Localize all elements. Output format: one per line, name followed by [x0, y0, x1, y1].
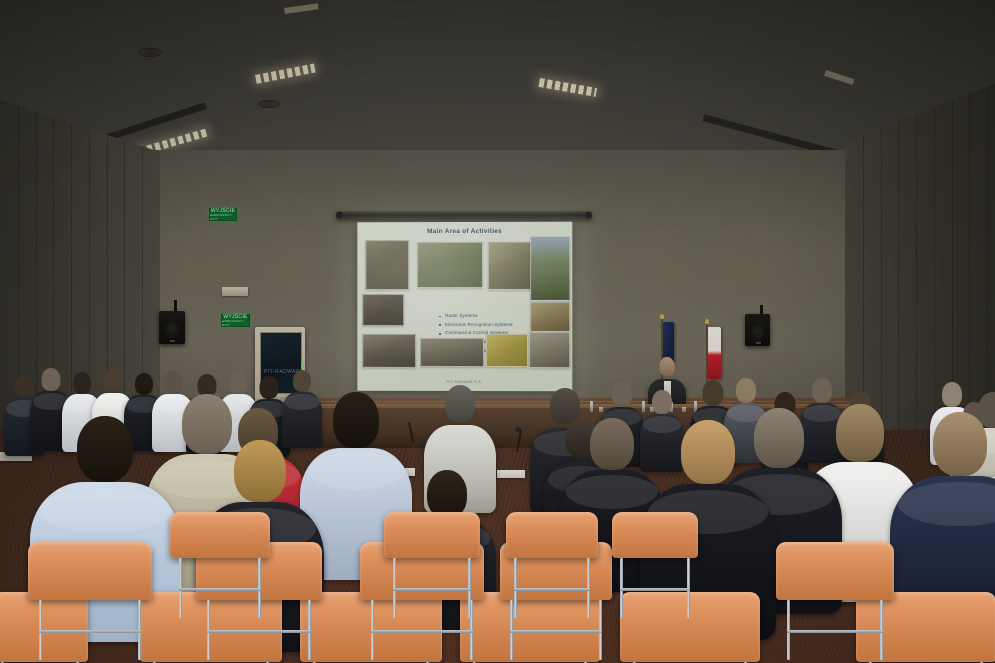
audience-chair[interactable]: [28, 542, 152, 600]
chair-backrest: [612, 512, 698, 558]
screen-bar-cap-right: [586, 212, 591, 218]
exit-sign-lower: WYJŚCIE EMERGENCY EXIT: [221, 314, 250, 327]
speaker-badge-left: [170, 340, 175, 342]
audience-chair[interactable]: [460, 592, 600, 662]
chair-backrest: [384, 512, 480, 558]
speaker-grille-left: [163, 320, 181, 339]
audience-chair[interactable]: [170, 512, 270, 558]
chair-backrest: [460, 592, 600, 662]
audience-head: [135, 373, 153, 395]
audience-chair[interactable]: [384, 512, 480, 558]
ceiling-cross-rail: [0, 110, 995, 111]
wall-plaque: [222, 287, 248, 296]
chair-rail: [371, 630, 473, 633]
foreground-man-dark-left: [640, 420, 776, 484]
audience-head: [836, 404, 884, 462]
polish-flag-cloth: [708, 327, 721, 379]
slide-title: Main Area of Activities: [357, 228, 572, 235]
slide-photo-control-room-interior: [362, 294, 404, 326]
screen-housing-bar: [336, 211, 592, 219]
chair-backrest: [170, 512, 270, 558]
exit-sign-sublabel-2: EMERGENCY EXIT: [222, 320, 249, 328]
chair-rail: [514, 588, 589, 591]
slide-bullet-1: Electronic Recognition Systems: [445, 321, 565, 330]
audience-head: [73, 372, 91, 394]
slide-photo-vehicle-convoy: [420, 338, 484, 367]
vip-shoulder-highlight: [428, 429, 491, 454]
table-microphone-head: [515, 427, 521, 432]
ceiling-cross-rail: [0, 14, 995, 15]
wall-speaker-left: [159, 311, 185, 344]
chair-rail: [510, 630, 602, 633]
audience-head: [42, 368, 61, 391]
slide-photo-equipment-rack: [529, 332, 570, 368]
table-namecard: [497, 470, 525, 478]
speaker-badge-right: [756, 342, 761, 344]
slide-photo-command-post-console: [362, 334, 416, 368]
audience-head: [234, 440, 286, 502]
ceiling-cross-rail: [0, 72, 995, 73]
chair-backrest: [776, 542, 894, 600]
projected-slide: Main Area of Activities Radar Systems El…: [357, 222, 572, 392]
slide-footer: PIT-RADWAR S.A.: [357, 380, 572, 384]
seated-vip-white-shirt: [424, 385, 496, 425]
audience-chair[interactable]: [856, 592, 995, 662]
ceiling-cross-rail: [0, 40, 995, 41]
chair-rail: [787, 630, 884, 633]
audience-head: [427, 470, 467, 518]
slide-photo-truck-mounted-radar: [488, 242, 534, 290]
chair-rail: [207, 630, 310, 633]
audience-chair[interactable]: [776, 542, 894, 600]
slide-bullet-0: Radar Systems: [445, 312, 565, 321]
audience-chair[interactable]: [0, 592, 88, 662]
chair-rail: [39, 630, 141, 633]
audience-head: [77, 416, 133, 482]
foreground-woman-dark-jacket: [196, 440, 324, 502]
chair-rail: [620, 588, 691, 591]
audience-head: [293, 370, 311, 392]
audience-head: [812, 378, 832, 403]
chair-backrest: [856, 592, 995, 662]
audience-head: [333, 392, 379, 448]
speaker-tweeter-left: [167, 315, 177, 319]
slide-photo-antenna-mast-tower: [530, 237, 570, 301]
speaker-grille-right: [749, 323, 766, 341]
ceiling-air-diffuser: [258, 100, 280, 108]
ceiling-air-diffuser: [138, 48, 162, 57]
chair-rail: [393, 588, 472, 591]
audience-head: [681, 420, 735, 484]
chair-backrest: [0, 592, 88, 662]
chair-rail: [179, 588, 261, 591]
exit-sign-upper: WYJŚCIE EMERGENCY EXIT: [209, 208, 237, 221]
audience-chair[interactable]: [612, 512, 698, 558]
audience-head: [703, 380, 724, 406]
namecard-text: [497, 470, 525, 471]
presenter: [648, 357, 686, 379]
exit-sign-sublabel: EMERGENCY EXIT: [210, 214, 236, 222]
screen-bar-cap-left: [337, 212, 342, 218]
slide-photo-mobile-radar-vehicle: [365, 240, 409, 290]
ceiling-light-fixture: [538, 78, 597, 97]
navy-flag-finial: [660, 314, 664, 319]
audience-head: [590, 418, 634, 470]
foreground-man-blue-shirt: [30, 416, 180, 482]
torso-highlight: [39, 488, 171, 533]
audience-head: [933, 412, 987, 476]
chair-backrest: [28, 542, 152, 600]
audience-head: [612, 382, 632, 407]
speaker-tweeter-right: [753, 318, 762, 322]
display-power-led: [301, 363, 304, 369]
chair-backrest: [506, 512, 598, 558]
audience-head: [229, 372, 247, 394]
audience-member-back-10: [600, 382, 644, 407]
audience-head: [104, 370, 123, 393]
audience-man-center-back: [398, 470, 496, 518]
audience-chair[interactable]: [506, 512, 598, 558]
wall-speaker-right: [745, 314, 770, 346]
presenter-head: [660, 357, 675, 376]
foreground-man-navy-suit: [890, 412, 995, 476]
audience-member-back-11: [640, 390, 684, 414]
audience-member-back-9: [282, 370, 322, 392]
slide-photo-aerial-terrain: [486, 334, 528, 367]
vip-head: [445, 385, 475, 423]
polish-flag-finial: [705, 319, 709, 324]
audience-head: [652, 390, 672, 414]
torso-highlight: [898, 482, 995, 526]
ceiling-light-fixture: [284, 3, 319, 14]
audience-head: [164, 370, 183, 394]
audience-head: [736, 378, 756, 403]
ceiling-light-fixture: [255, 64, 316, 84]
slide-photo-radar-array-field: [417, 242, 483, 288]
conference-room-photo: WYJŚCIE EMERGENCY EXIT WYJŚCIE EMERGENCY…: [0, 0, 995, 663]
